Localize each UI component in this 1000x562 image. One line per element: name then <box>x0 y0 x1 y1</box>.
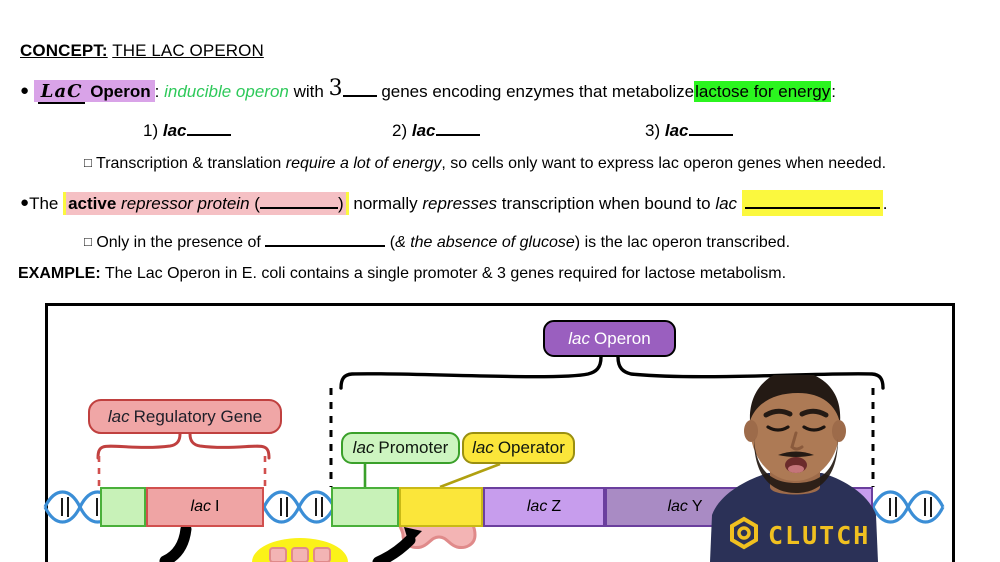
paren-close: ) <box>338 194 344 213</box>
sub2-rest: is the lac operon transcribed. <box>585 234 790 251</box>
paren-close: ) <box>575 234 580 251</box>
gene-blank-1-line[interactable] <box>187 119 231 136</box>
lecture-notes: CONCEPT: THE LAC OPERON ● LaC Operon: in… <box>0 0 1000 300</box>
clutch-wordmark: CLUTCH <box>768 521 870 550</box>
gene-blank-3-number: 3) <box>645 121 660 140</box>
sub-bullet-presence: □ Only in the presence of (& the absence… <box>84 230 790 252</box>
gene-blank-2-prefix: lac <box>412 121 436 140</box>
segment-lac-Z-italic: lac <box>527 498 551 516</box>
bullet-operon-definition: ● LaC Operon: inducible operon with 3 ge… <box>20 80 836 102</box>
square-bullet-icon: □ <box>84 234 92 249</box>
label-lac-operon-text: Operon <box>594 329 651 349</box>
period: . <box>883 194 888 213</box>
bullet-dot: ● <box>20 82 29 99</box>
bound-to-text: transcription when bound to <box>502 194 711 213</box>
lac-operator-blank[interactable] <box>745 192 880 209</box>
concept-label: CONCEPT: <box>20 41 108 60</box>
segment-lac-operator[interactable] <box>399 487 483 527</box>
sub1-rest: , so cells only want to express lac oper… <box>441 155 886 172</box>
tongue <box>788 465 804 473</box>
segment-lac-I-text: I <box>215 498 219 516</box>
label-lac-regulatory-gene[interactable]: lac Regulatory Gene <box>88 399 282 434</box>
gene-blank-3-line[interactable] <box>689 119 733 136</box>
presence-blank[interactable] <box>265 230 385 247</box>
line-colon: : <box>831 82 836 101</box>
square-bullet-icon: □ <box>84 155 92 170</box>
label-regulatory-italic: lac <box>108 407 134 427</box>
absence-glucose-italic: & the absence of glucose <box>395 234 575 251</box>
blank-count <box>343 80 377 97</box>
instructor-webcam-overlay: CLUTCH <box>690 375 905 562</box>
lac-operator-blank-highlight[interactable] <box>742 190 883 216</box>
with-word: with <box>294 82 324 101</box>
label-lac-promoter[interactable]: lac Promoter <box>341 432 460 464</box>
gene-blank-3: 3) lac <box>645 119 733 141</box>
gene-blank-2-line[interactable] <box>436 119 480 136</box>
repressor-pink-highlight: active repressor protein () <box>66 192 346 215</box>
presence-text: Only in the presence of <box>96 234 261 251</box>
label-operator-italic: lac <box>472 438 498 458</box>
handwritten-three: 3 <box>329 76 343 101</box>
ear-right <box>832 420 846 442</box>
operon-word: Operon <box>90 82 150 101</box>
normally-word: normally <box>353 194 417 213</box>
require-energy-italic: require a lot of energy <box>286 155 442 172</box>
example-line: EXAMPLE: The Lac Operon in E. coli conta… <box>18 265 786 283</box>
bullet-dot: ● <box>20 194 29 211</box>
gene-blank-1-number: 1) <box>143 121 158 140</box>
handwritten-lac: LaC <box>38 81 86 104</box>
gene-blank-3-prefix: lac <box>665 121 689 140</box>
repressor-protein-text: repressor protein <box>121 194 250 213</box>
colon: : <box>155 82 160 101</box>
example-label: EXAMPLE: <box>18 265 101 282</box>
inducible-operon-text: inducible operon <box>164 82 289 101</box>
label-promoter-text: Promoter <box>378 438 448 458</box>
label-lac-operator[interactable]: lac Operator <box>462 432 575 464</box>
segment-lac-Z[interactable]: lac Z <box>483 487 605 527</box>
segment-lac-Z-text: Z <box>551 498 561 516</box>
label-regulatory-text: Regulatory Gene <box>134 407 263 427</box>
segment-lac-Y-italic: lac <box>667 498 691 516</box>
bullet-repressor: ●The active repressor protein () normall… <box>20 190 888 216</box>
the-word: The <box>29 194 58 213</box>
segment-lac-promoter[interactable] <box>331 487 399 527</box>
repressor-blank[interactable] <box>260 192 338 209</box>
lac-italic: lac <box>715 194 737 213</box>
ear-left <box>744 420 758 442</box>
lactose-energy-highlight: lactose for energy <box>694 81 831 102</box>
label-lac-operon-italic: lac <box>568 329 594 349</box>
label-promoter-italic: lac <box>353 438 379 458</box>
genes-encoding-text: genes encoding enzymes that metabolize <box>381 82 694 101</box>
instructor-figure: CLUTCH <box>690 375 905 562</box>
active-word: active <box>68 194 116 213</box>
gene-blank-1: 1) lac <box>143 119 231 141</box>
represses-word: represses <box>422 194 497 213</box>
segment-lac-I-italic: lac <box>191 498 215 516</box>
segment-lac-I[interactable]: lac I <box>146 487 264 527</box>
gene-blank-2-number: 2) <box>392 121 407 140</box>
label-lac-operon[interactable]: lac Operon <box>543 320 676 357</box>
segment-regulatory-promoter[interactable] <box>100 487 146 527</box>
example-text: The Lac Operon in E. coli contains a sin… <box>105 265 786 282</box>
label-operator-text: Operator <box>498 438 565 458</box>
operon-term-highlight: LaC Operon <box>34 80 155 102</box>
sub-bullet-energy: □ Transcription & translation require a … <box>84 155 886 173</box>
transcription-text: Transcription & translation <box>96 155 281 172</box>
page-title: CONCEPT: THE LAC OPERON <box>20 41 264 61</box>
gene-blank-2: 2) lac <box>392 119 480 141</box>
gene-blank-1-prefix: lac <box>163 121 187 140</box>
repressor-yellow-highlight: active repressor protein () <box>63 192 349 215</box>
concept-title: THE LAC OPERON <box>112 41 264 60</box>
